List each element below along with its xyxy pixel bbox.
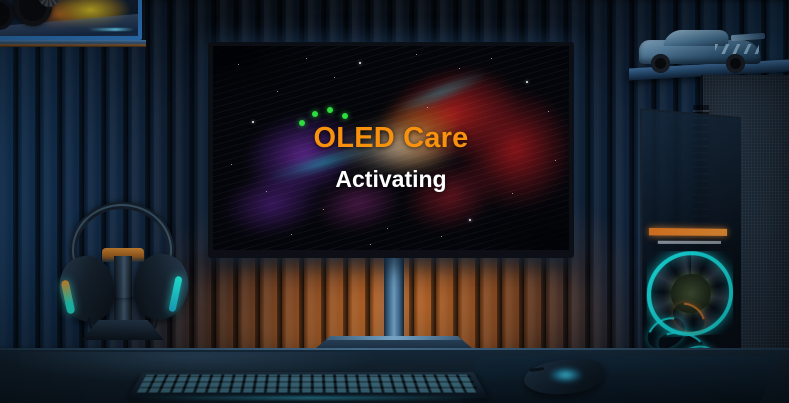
car-front-wheel [651,54,670,73]
monitor-screen[interactable]: OLED Care Activating [213,46,569,250]
gpu-accent-light [649,228,727,236]
monitor-stand-neck [384,250,404,346]
keyboard-keys[interactable] [137,375,479,393]
oled-monitor[interactable]: OLED Care Activating [208,42,574,258]
pc-tower [645,75,789,393]
oled-care-overlay: OLED Care Activating [213,46,569,250]
gaming-mouse[interactable] [524,360,604,394]
spinner-dot-3 [327,107,333,113]
car-rear-wheel [726,54,745,73]
spinner-dot-4 [342,113,348,119]
desk-front-edge [0,348,789,350]
car-accent-stripes [715,44,759,54]
gpu-edge-trim [658,241,721,244]
racing-poster [0,0,142,40]
poster-light-streak [88,28,134,31]
oled-care-status: Activating [213,166,569,193]
poster-artwork [0,0,138,36]
car-spoiler [731,33,765,41]
spinner-dot-2 [312,111,318,117]
mousepad [461,356,780,403]
sports-car-model [639,28,761,72]
oled-care-title: OLED Care [213,122,569,155]
gaming-setup-scene: OLED Care Activating [0,0,789,403]
poster-wheel-rim [38,0,60,7]
tempered-glass-side-panel [640,108,741,384]
wall-shelf-left [0,40,146,47]
keyboard-backlight-glow [129,396,487,400]
mechanical-keyboard[interactable] [128,372,488,398]
mouse-rgb-glow [546,366,590,386]
gaming-headset [62,200,182,350]
